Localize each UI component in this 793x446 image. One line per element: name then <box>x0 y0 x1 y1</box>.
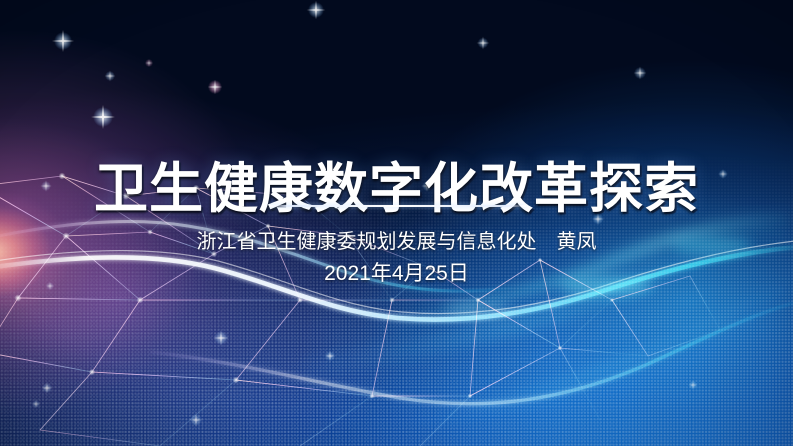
presentation-slide: 卫生健康数字化改革探索 浙江省卫生健康委规划发展与信息化处 黄凤 2021年4月… <box>0 0 793 446</box>
slide-subtitle-author: 浙江省卫生健康委规划发展与信息化处 黄凤 <box>0 229 793 255</box>
slide-content: 卫生健康数字化改革探索 浙江省卫生健康委规划发展与信息化处 黄凤 2021年4月… <box>0 0 793 446</box>
slide-title: 卫生健康数字化改革探索 <box>0 157 793 221</box>
slide-date: 2021年4月25日 <box>0 261 793 287</box>
title-divider-rule <box>268 205 526 207</box>
